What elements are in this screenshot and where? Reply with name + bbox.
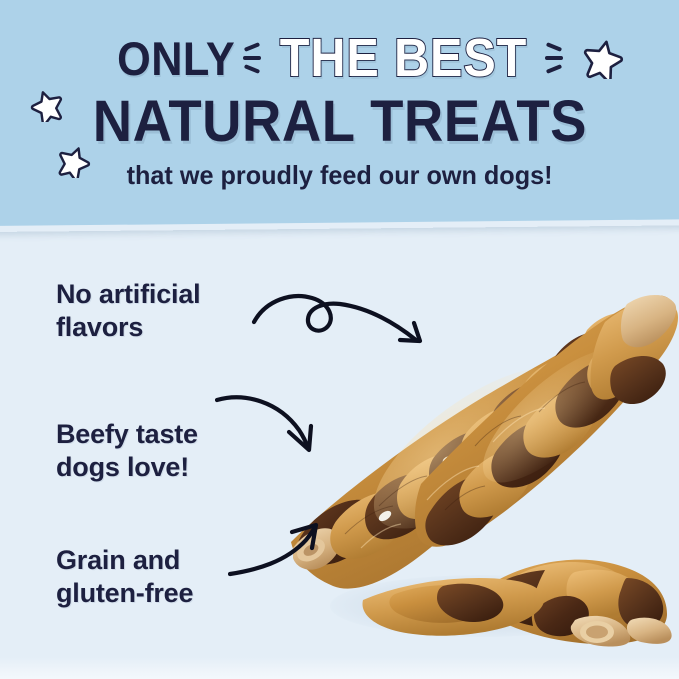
headline-word-the-best: THE BEST	[280, 27, 528, 89]
feature-label-grain-gluten-free: Grain and gluten-free	[56, 544, 193, 610]
burst-lines-left-icon	[240, 35, 266, 81]
feature-label-beefy-taste: Beefy taste dogs love!	[56, 418, 198, 484]
star-icon	[30, 88, 64, 127]
headline-line-2: NATURAL TREATS	[0, 88, 679, 155]
burst-lines-right-icon	[541, 35, 567, 81]
headline-natural-treats: NATURAL TREATS	[92, 88, 586, 155]
marketing-infographic: ONLYTHE BEST NATURAL TREATS that we prou…	[0, 0, 679, 679]
curved-down-arrow-icon	[215, 392, 335, 463]
headline-line-1: ONLYTHE BEST	[0, 27, 679, 89]
bottom-fade	[0, 657, 679, 679]
headline-word-only: ONLY	[117, 31, 235, 86]
feature-label-no-artificial-flavors: No artificial flavors	[56, 278, 200, 344]
header-content: ONLYTHE BEST NATURAL TREATS that we prou…	[0, 0, 679, 225]
curly-loop-arrow-icon	[250, 282, 450, 357]
subheadline: that we proudly feed our own dogs!	[0, 160, 679, 191]
star-icon	[582, 37, 624, 84]
star-icon	[57, 144, 91, 183]
subheadline-text: that we proudly feed our own dogs!	[127, 160, 553, 191]
curved-up-arrow-icon	[228, 518, 343, 585]
